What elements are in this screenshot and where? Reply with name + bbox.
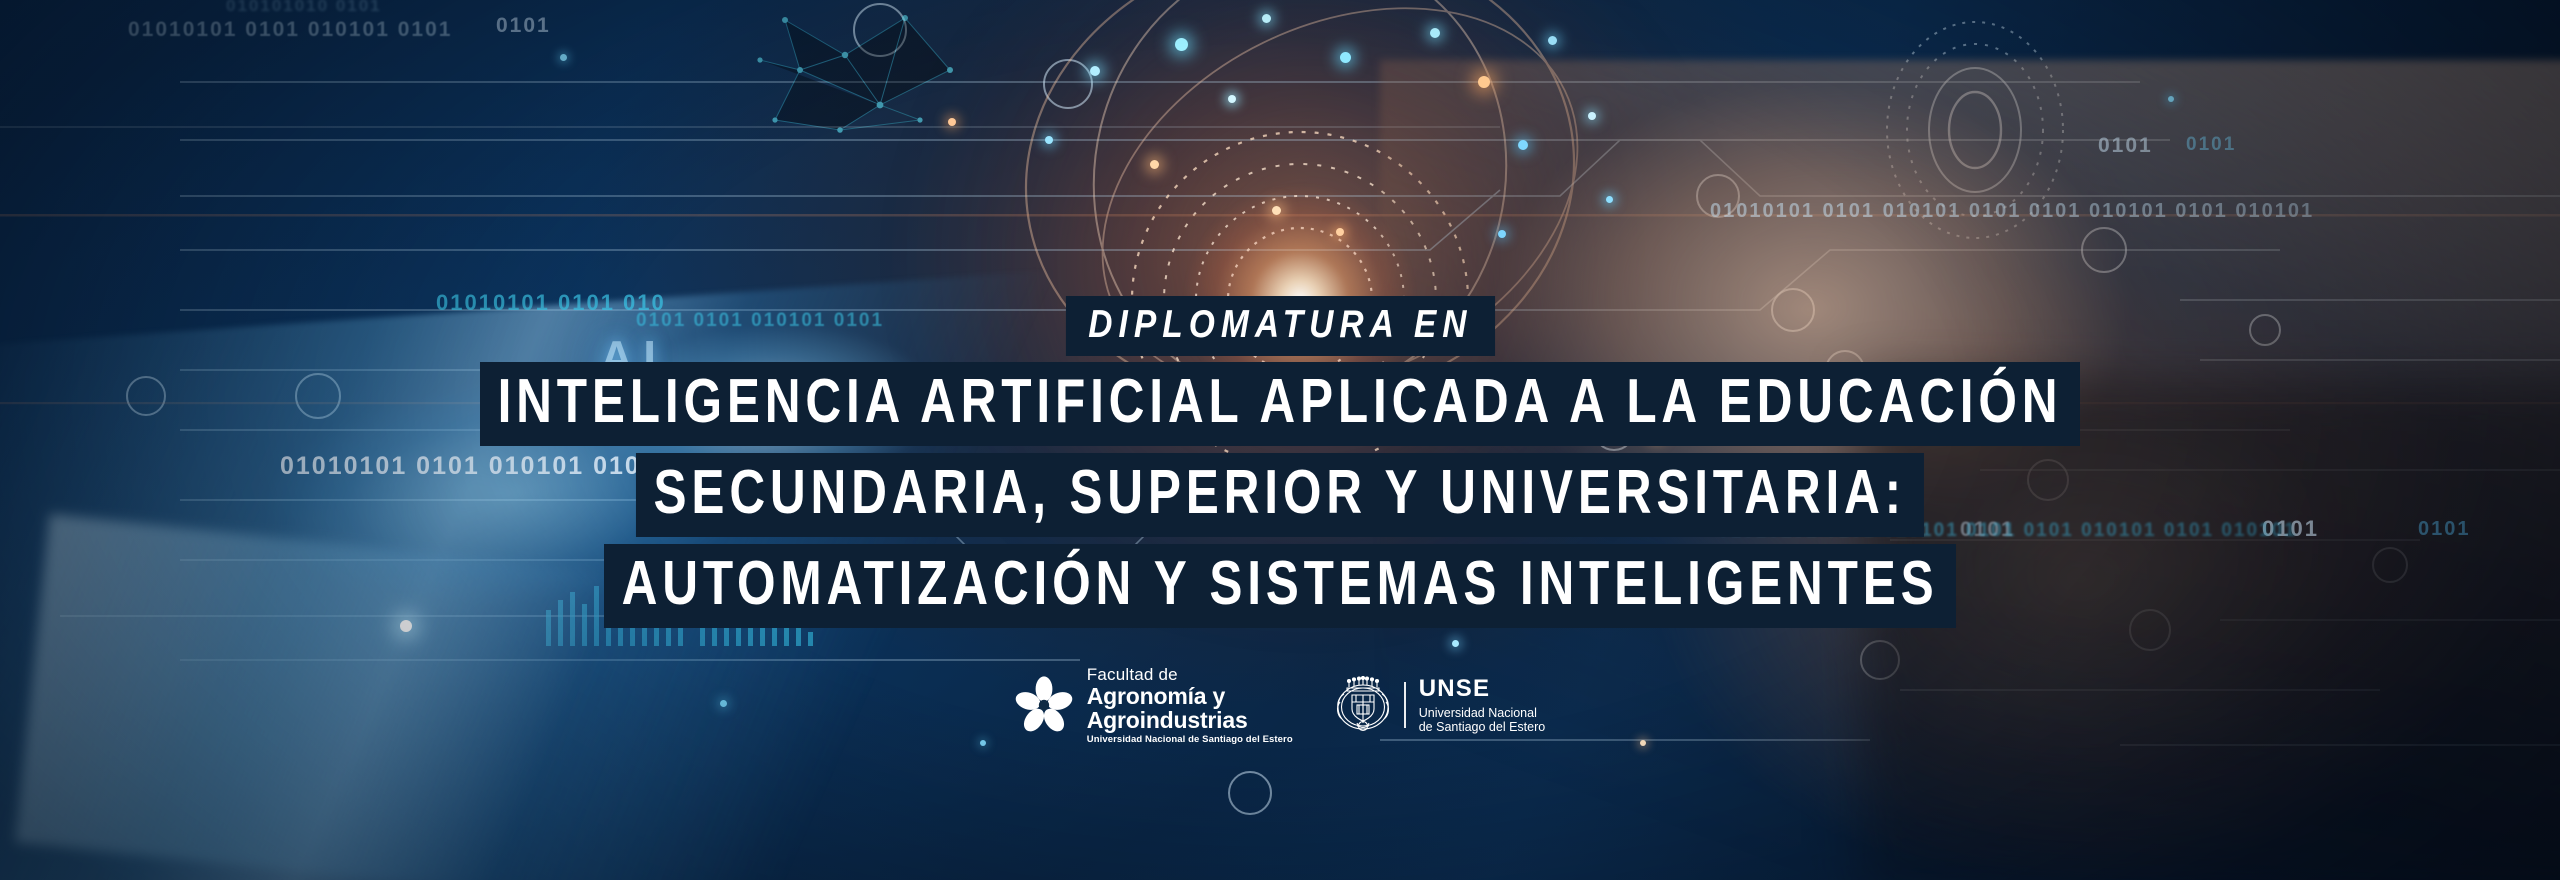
faculty-logo: Facultad de Agronomía y Agroindustrias U… — [1015, 666, 1293, 745]
logo-divider — [1404, 682, 1406, 728]
banner-title-line-3: AUTOMATIZACIÓN Y SISTEMAS INTELIGENTES — [604, 544, 1956, 628]
banner-title-line-2: SECUNDARIA, SUPERIOR Y UNIVERSITARIA: — [636, 453, 1924, 537]
institution-logos: Facultad de Agronomía y Agroindustrias U… — [0, 666, 2560, 745]
diplomatura-banner: 01010101 0101 010101 0101 010101010 0101… — [0, 0, 2560, 880]
university-line-1: Universidad Nacional — [1419, 706, 1545, 720]
university-logo-text: UNSE Universidad Nacional de Santiago de… — [1419, 676, 1545, 734]
banner-kicker: DIPLOMATURA EN — [1066, 296, 1495, 356]
faculty-line-3: Agroindustrias — [1087, 709, 1293, 732]
flower-petal-icon — [1015, 676, 1073, 734]
banner-title-line-1: INTELIGENCIA ARTIFICIAL APLICADA A LA ED… — [480, 362, 2080, 446]
university-line-2: de Santiago del Estero — [1419, 720, 1545, 734]
banner-title-block: DIPLOMATURA EN INTELIGENCIA ARTIFICIAL A… — [0, 296, 2560, 628]
university-acronym: UNSE — [1419, 676, 1545, 703]
faculty-line-4: Universidad Nacional de Santiago del Est… — [1087, 735, 1293, 745]
university-logo: UNSE Universidad Nacional de Santiago de… — [1335, 676, 1545, 734]
unse-crest-icon — [1335, 676, 1391, 734]
faculty-line-1: Facultad de — [1087, 666, 1293, 683]
faculty-logo-text: Facultad de Agronomía y Agroindustrias U… — [1087, 666, 1293, 745]
faculty-line-2: Agronomía y — [1087, 685, 1293, 708]
